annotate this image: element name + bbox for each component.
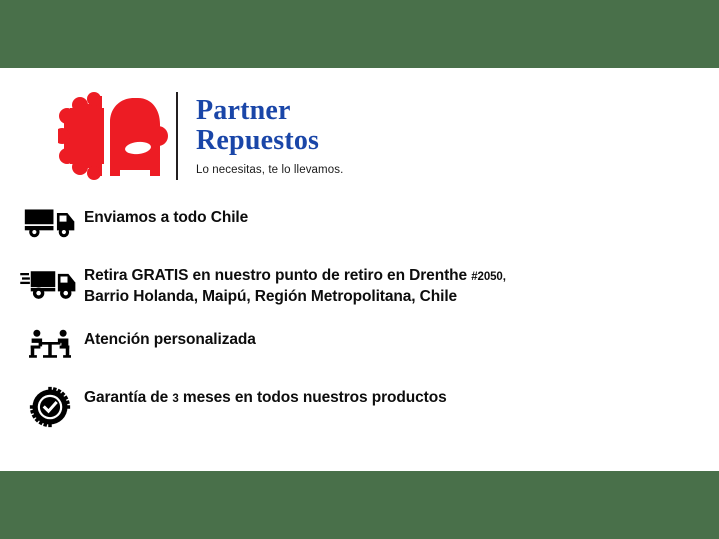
warranty-prefix: Garantía de [84, 389, 172, 406]
feature-row-shipping: Enviamos a todo Chile [16, 206, 706, 250]
feature-label-warranty: Garantía de 3 meses en todos nuestros pr… [84, 386, 447, 409]
bottom-green-band [0, 471, 719, 539]
logo-divider [176, 92, 178, 180]
brand-wordmark: Partner Repuestos Lo necesitas, te lo ll… [196, 96, 343, 176]
gear-car-icon [58, 92, 168, 180]
feature-label-pickup: Retira GRATIS en nuestro punto de retiro… [84, 266, 506, 307]
feature-row-service: Atención personalizada [16, 328, 706, 372]
promo-banner: Partner Repuestos Lo necesitas, te lo ll… [0, 0, 719, 539]
pickup-line-1-prefix: Retira GRATIS en nuestro punto de retiro… [84, 267, 471, 284]
feature-label-shipping: Enviamos a todo Chile [84, 206, 248, 228]
delivery-truck-icon [16, 206, 84, 239]
brand-tagline: Lo necesitas, te lo llevamos. [196, 164, 343, 176]
feature-row-warranty: Garantía de 3 meses en todos nuestros pr… [16, 386, 706, 434]
feature-row-pickup: Retira GRATIS en nuestro punto de retiro… [16, 266, 706, 314]
warranty-suffix: meses en todos nuestros productos [179, 389, 447, 406]
brand-logo: Partner Repuestos Lo necesitas, te lo ll… [58, 92, 343, 180]
brand-line-partner: Partner [196, 96, 343, 126]
pickup-street-number: #2050, [471, 271, 506, 283]
feature-label-service: Atención personalizada [84, 328, 256, 350]
top-green-band [0, 0, 719, 68]
pickup-line-2: Barrio Holanda, Maipú, Región Metropolit… [84, 288, 457, 305]
guarantee-badge-check-icon [16, 386, 84, 428]
brand-line-repuestos: Repuestos [196, 126, 343, 156]
moving-truck-icon [16, 266, 84, 301]
feature-list: Enviamos a todo Chile [16, 206, 706, 434]
people-at-table-icon [16, 328, 84, 363]
